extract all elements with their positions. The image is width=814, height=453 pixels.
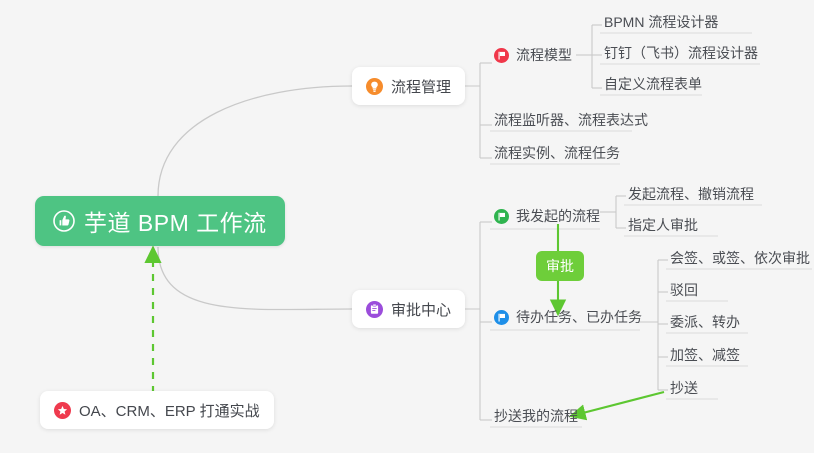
approval-flow-badge: 审批: [536, 251, 584, 281]
node-label: 委派、转办: [670, 312, 740, 332]
lightbulb-icon: [366, 78, 383, 95]
node-todo-done-tasks[interactable]: 待办任务、已办任务: [492, 304, 648, 330]
node-start-cancel-process[interactable]: 发起流程、撤销流程: [626, 181, 760, 207]
node-carbon-copy[interactable]: 抄送: [668, 375, 704, 401]
node-label: 自定义流程表单: [604, 74, 702, 94]
approval-flow-badge-label: 审批: [546, 256, 574, 276]
node-label: 加签、减签: [670, 345, 740, 365]
node-process-model[interactable]: 流程模型: [492, 42, 578, 68]
node-my-started-processes[interactable]: 我发起的流程: [492, 203, 606, 229]
branch-label: 流程管理: [391, 76, 451, 97]
node-delegate-transfer[interactable]: 委派、转办: [668, 309, 746, 335]
node-label: 发起流程、撤销流程: [628, 184, 754, 204]
node-label: 抄送我的流程: [494, 406, 578, 426]
node-label: 流程模型: [516, 45, 572, 65]
node-cc-to-me-processes[interactable]: 抄送我的流程: [492, 403, 584, 429]
node-assignee-approval[interactable]: 指定人审批: [626, 212, 704, 238]
node-label: 驳回: [670, 280, 698, 300]
root-label: 芋道 BPM 工作流: [84, 204, 267, 238]
branch-label: 审批中心: [391, 299, 451, 320]
node-label: 流程实例、流程任务: [494, 143, 620, 163]
node-label: 会签、或签、依次审批: [670, 248, 810, 268]
branch-node-approval-center[interactable]: 审批中心: [352, 290, 465, 328]
node-process-listener[interactable]: 流程监听器、流程表达式: [492, 107, 654, 133]
node-label: 我发起的流程: [516, 206, 600, 226]
node-label: 待办任务、已办任务: [516, 307, 642, 327]
annotation-label: OA、CRM、ERP 打通实战: [79, 400, 260, 421]
node-label: 钉钉（飞书）流程设计器: [604, 43, 758, 63]
annotation-node-integration[interactable]: OA、CRM、ERP 打通实战: [40, 391, 274, 429]
branch-node-process-management[interactable]: 流程管理: [352, 67, 465, 105]
flag-icon: [494, 48, 509, 63]
root-node[interactable]: 芋道 BPM 工作流: [35, 196, 285, 246]
node-custom-form[interactable]: 自定义流程表单: [602, 71, 708, 97]
flag-icon: [494, 209, 509, 224]
thumbs-up-icon: [53, 210, 75, 232]
node-reject[interactable]: 驳回: [668, 277, 704, 303]
node-add-remove-sign[interactable]: 加签、减签: [668, 342, 746, 368]
node-label: 指定人审批: [628, 215, 698, 235]
flag-icon: [494, 310, 509, 325]
node-countersign[interactable]: 会签、或签、依次审批: [668, 245, 814, 271]
mindmap-canvas: 芋道 BPM 工作流 流程管理 流程模型 BPMN 流程设计器 钉钉（飞书: [0, 0, 814, 453]
node-label: 流程监听器、流程表达式: [494, 110, 648, 130]
node-dingtalk-designer[interactable]: 钉钉（飞书）流程设计器: [602, 40, 764, 66]
node-bpmn-designer[interactable]: BPMN 流程设计器: [602, 9, 724, 35]
node-process-instance[interactable]: 流程实例、流程任务: [492, 140, 626, 166]
node-label: BPMN 流程设计器: [604, 12, 718, 32]
star-icon: [54, 402, 71, 419]
node-label: 抄送: [670, 378, 698, 398]
clipboard-icon: [366, 301, 383, 318]
